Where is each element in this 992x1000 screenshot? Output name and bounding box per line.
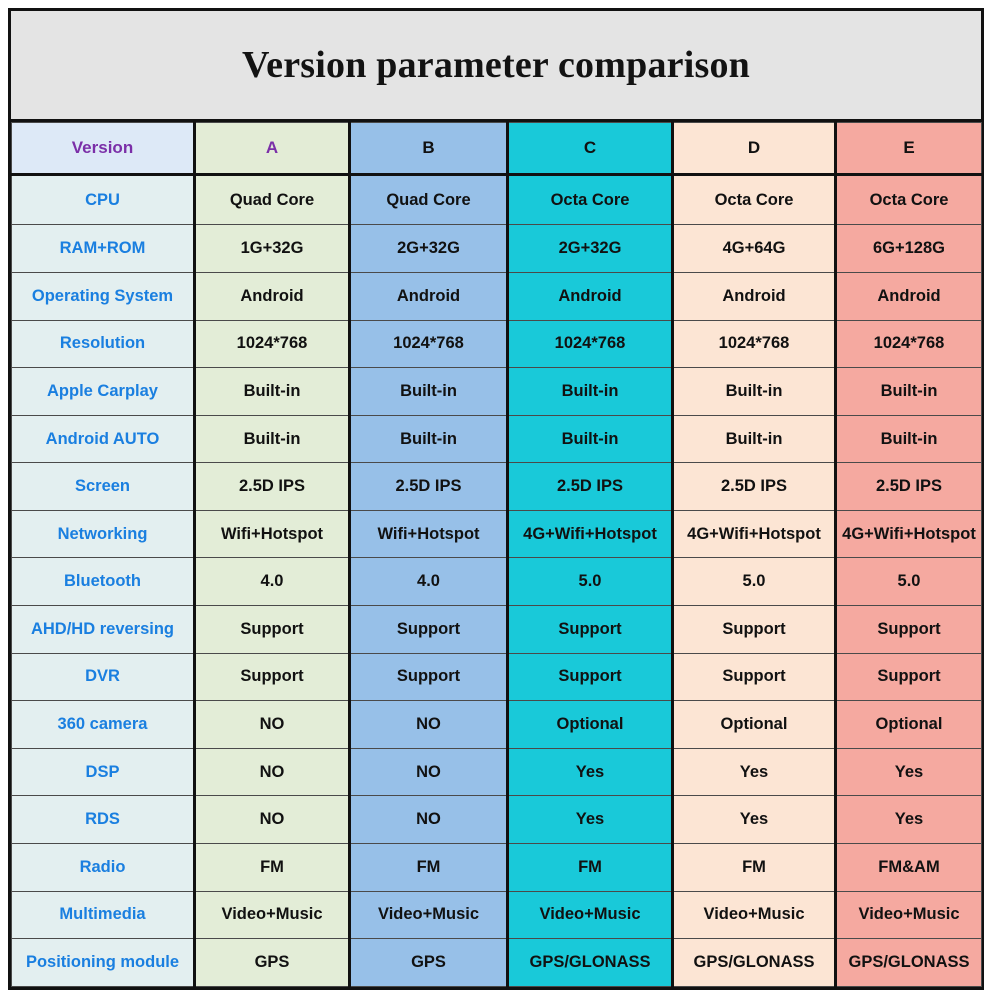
cell-d-2: 4G+64G [673,225,836,273]
table-row: MultimediaVideo+MusicVideo+MusicVideo+Mu… [12,891,982,939]
cell-d-16: Video+Music [673,891,836,939]
cell-a-3: Android [195,272,350,320]
cell-c-15: FM [508,844,673,892]
cell-c-11: Support [508,653,673,701]
cell-e-5: Built-in [836,368,982,416]
cell-b-14: NO [350,796,508,844]
table-row: Resolution1024*7681024*7681024*7681024*7… [12,320,982,368]
cell-b-3: Android [350,272,508,320]
cell-b-8: Wifi+Hotspot [350,510,508,558]
cell-c-9: 5.0 [508,558,673,606]
table-header-row: Version A B C D E [12,123,982,175]
row-label-android-auto: Android AUTO [12,415,195,463]
cell-e-17: GPS/GLONASS [836,939,982,987]
title-bar: Version parameter comparison [11,11,981,122]
cell-d-4: 1024*768 [673,320,836,368]
page-root: Version parameter comparison Version A B… [0,0,992,1000]
cell-c-16: Video+Music [508,891,673,939]
cell-e-12: Optional [836,701,982,749]
cell-c-10: Support [508,606,673,654]
cell-b-6: Built-in [350,415,508,463]
cell-d-5: Built-in [673,368,836,416]
cell-a-10: Support [195,606,350,654]
cell-e-7: 2.5D IPS [836,463,982,511]
cell-e-8: 4G+Wifi+Hotspot [836,510,982,558]
cell-b-15: FM [350,844,508,892]
cell-b-17: GPS [350,939,508,987]
header-cell-a: A [195,123,350,175]
cell-a-13: NO [195,748,350,796]
cell-a-5: Built-in [195,368,350,416]
cell-d-1: Octa Core [673,175,836,225]
cell-b-11: Support [350,653,508,701]
comparison-sheet: Version parameter comparison Version A B… [8,8,984,990]
header-cell-d: D [673,123,836,175]
cell-d-14: Yes [673,796,836,844]
cell-b-4: 1024*768 [350,320,508,368]
row-label-networking: Networking [12,510,195,558]
cell-e-13: Yes [836,748,982,796]
cell-c-14: Yes [508,796,673,844]
cell-e-4: 1024*768 [836,320,982,368]
table-row: DVRSupportSupportSupportSupportSupport [12,653,982,701]
table-row: Android AUTOBuilt-inBuilt-inBuilt-inBuil… [12,415,982,463]
row-label-radio: Radio [12,844,195,892]
cell-e-3: Android [836,272,982,320]
cell-a-11: Support [195,653,350,701]
cell-b-12: NO [350,701,508,749]
cell-a-16: Video+Music [195,891,350,939]
cell-a-9: 4.0 [195,558,350,606]
header-cell-e: E [836,123,982,175]
row-label-dsp: DSP [12,748,195,796]
table-row: AHD/HD reversingSupportSupportSupportSup… [12,606,982,654]
row-label-360-camera: 360 camera [12,701,195,749]
row-label-dvr: DVR [12,653,195,701]
cell-b-9: 4.0 [350,558,508,606]
cell-b-16: Video+Music [350,891,508,939]
cell-b-5: Built-in [350,368,508,416]
row-label-rds: RDS [12,796,195,844]
cell-c-5: Built-in [508,368,673,416]
cell-d-13: Yes [673,748,836,796]
row-label-screen: Screen [12,463,195,511]
cell-d-8: 4G+Wifi+Hotspot [673,510,836,558]
row-label-ahd-hd-reversing: AHD/HD reversing [12,606,195,654]
cell-c-13: Yes [508,748,673,796]
cell-a-15: FM [195,844,350,892]
cell-c-17: GPS/GLONASS [508,939,673,987]
cell-b-7: 2.5D IPS [350,463,508,511]
table-row: 360 cameraNONOOptionalOptionalOptional [12,701,982,749]
cell-c-6: Built-in [508,415,673,463]
cell-d-11: Support [673,653,836,701]
cell-b-13: NO [350,748,508,796]
row-label-cpu: CPU [12,175,195,225]
table-row: Bluetooth4.04.05.05.05.0 [12,558,982,606]
row-label-ram-rom: RAM+ROM [12,225,195,273]
table-row: CPUQuad CoreQuad CoreOcta CoreOcta CoreO… [12,175,982,225]
cell-a-8: Wifi+Hotspot [195,510,350,558]
row-label-operating-system: Operating System [12,272,195,320]
cell-e-15: FM&AM [836,844,982,892]
table-row: Apple CarplayBuilt-inBuilt-inBuilt-inBui… [12,368,982,416]
cell-d-12: Optional [673,701,836,749]
cell-c-4: 1024*768 [508,320,673,368]
table-row: Screen2.5D IPS2.5D IPS2.5D IPS2.5D IPS2.… [12,463,982,511]
cell-a-6: Built-in [195,415,350,463]
table-row: Operating SystemAndroidAndroidAndroidAnd… [12,272,982,320]
header-cell-version: Version [12,123,195,175]
cell-c-8: 4G+Wifi+Hotspot [508,510,673,558]
cell-d-6: Built-in [673,415,836,463]
cell-e-16: Video+Music [836,891,982,939]
cell-c-7: 2.5D IPS [508,463,673,511]
table-row: RadioFMFMFMFMFM&AM [12,844,982,892]
cell-d-10: Support [673,606,836,654]
cell-c-2: 2G+32G [508,225,673,273]
cell-a-4: 1024*768 [195,320,350,368]
cell-b-2: 2G+32G [350,225,508,273]
header-cell-c: C [508,123,673,175]
cell-c-1: Octa Core [508,175,673,225]
table-row: RDSNONOYesYesYes [12,796,982,844]
cell-a-17: GPS [195,939,350,987]
cell-a-1: Quad Core [195,175,350,225]
table-row: Positioning moduleGPSGPSGPS/GLONASSGPS/G… [12,939,982,987]
cell-c-3: Android [508,272,673,320]
cell-b-1: Quad Core [350,175,508,225]
cell-a-2: 1G+32G [195,225,350,273]
header-cell-b: B [350,123,508,175]
row-label-resolution: Resolution [12,320,195,368]
cell-e-10: Support [836,606,982,654]
cell-c-12: Optional [508,701,673,749]
cell-d-3: Android [673,272,836,320]
cell-d-15: FM [673,844,836,892]
cell-a-14: NO [195,796,350,844]
cell-a-12: NO [195,701,350,749]
cell-d-17: GPS/GLONASS [673,939,836,987]
table-row: NetworkingWifi+HotspotWifi+Hotspot4G+Wif… [12,510,982,558]
cell-e-6: Built-in [836,415,982,463]
cell-e-2: 6G+128G [836,225,982,273]
cell-a-7: 2.5D IPS [195,463,350,511]
table-row: RAM+ROM1G+32G2G+32G2G+32G4G+64G6G+128G [12,225,982,273]
row-label-apple-carplay: Apple Carplay [12,368,195,416]
row-label-bluetooth: Bluetooth [12,558,195,606]
cell-e-11: Support [836,653,982,701]
version-comparison-table: Version A B C D E CPUQuad CoreQuad CoreO… [11,122,982,987]
cell-e-14: Yes [836,796,982,844]
cell-d-9: 5.0 [673,558,836,606]
page-title: Version parameter comparison [242,43,750,87]
cell-e-1: Octa Core [836,175,982,225]
cell-d-7: 2.5D IPS [673,463,836,511]
cell-b-10: Support [350,606,508,654]
table-row: DSPNONOYesYesYes [12,748,982,796]
table-body: Version A B C D E CPUQuad CoreQuad CoreO… [12,123,982,987]
row-label-multimedia: Multimedia [12,891,195,939]
cell-e-9: 5.0 [836,558,982,606]
row-label-positioning-module: Positioning module [12,939,195,987]
